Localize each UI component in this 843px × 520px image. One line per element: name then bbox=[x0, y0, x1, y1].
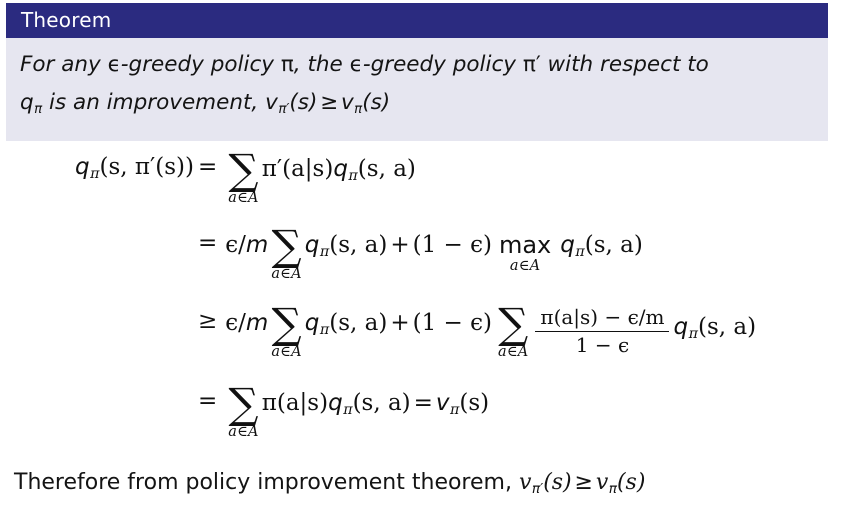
row2-q2-subscript: π bbox=[575, 244, 584, 260]
equation-row-3-lhs bbox=[0, 302, 198, 308]
v1-argument: (s) bbox=[289, 90, 317, 115]
row3-fraction-denominator: 1 − ϵ bbox=[535, 331, 669, 357]
q-symbol: q bbox=[20, 90, 34, 115]
row3-epsilon: ϵ bbox=[225, 310, 238, 336]
equation-row-4: = ∑ a∈A π(a|s)qπ(s, a)=vπ(s) bbox=[0, 382, 843, 442]
row3-slash: / bbox=[238, 310, 246, 336]
row4-pi: π bbox=[262, 390, 277, 416]
row2-m: m bbox=[246, 232, 268, 258]
row3-summation-operator-2: ∑ a∈A bbox=[498, 302, 528, 359]
row4-summand: π(a|s)qπ(s, a)=vπ(s) bbox=[262, 382, 489, 418]
conclusion-v2: v bbox=[596, 470, 608, 495]
row2-q1-subscript: π bbox=[320, 244, 329, 260]
text-with-respect-to: with respect to bbox=[541, 52, 709, 77]
v-symbol-1: v bbox=[265, 90, 278, 115]
row3-fraction: π(a|s) − ϵ/m 1 − ϵ bbox=[535, 306, 669, 357]
row2-one-minus-epsilon: (1 − ϵ) bbox=[413, 224, 492, 258]
text-is-an-improvement: is an improvement, bbox=[42, 90, 265, 115]
row1-prob-arg: (a|s) bbox=[282, 156, 333, 182]
row4-relation-equals: = bbox=[198, 382, 225, 414]
geq-symbol-statement: ≥ bbox=[317, 90, 341, 115]
theorem-header-title: Theorem bbox=[6, 3, 828, 38]
row1-close-arg: (s)) bbox=[155, 154, 194, 180]
row3-q2: q bbox=[673, 314, 688, 340]
conclusion-v2-subscript: π bbox=[609, 481, 617, 497]
row2-slash: / bbox=[238, 232, 246, 258]
v-subscript-pi: π bbox=[354, 91, 362, 129]
equation-row-1-rhs: ∑ a∈A π′(a|s)qπ(s, a) bbox=[225, 148, 416, 205]
sigma-icon: ∑ bbox=[229, 151, 259, 190]
epsilon-symbol-1: ϵ bbox=[108, 52, 121, 77]
row2-coefficient: ϵ/m bbox=[225, 224, 268, 258]
row3-sum1-limit: a∈A bbox=[271, 345, 301, 360]
theorem-statement: For any ϵ-greedy policy π, the ϵ-greedy … bbox=[6, 38, 828, 141]
row1-q-rhs-subscript: π bbox=[348, 168, 357, 184]
row4-q: q bbox=[328, 390, 343, 416]
row3-summation-operator-1: ∑ a∈A bbox=[271, 302, 301, 359]
v-symbol-2: v bbox=[341, 90, 354, 115]
slide-canvas: Theorem For any ϵ-greedy policy π, the ϵ… bbox=[0, 0, 843, 520]
row3-m: m bbox=[246, 310, 268, 336]
conclusion-v1-arg: (s) bbox=[543, 470, 571, 495]
row3-q1: q bbox=[305, 310, 320, 336]
sigma-icon: ∑ bbox=[229, 385, 259, 424]
row1-q-subscript: π bbox=[90, 166, 99, 182]
row4-v: v bbox=[436, 390, 450, 416]
row3-q1-arg: (s, a) bbox=[329, 310, 387, 336]
sigma-icon: ∑ bbox=[272, 227, 302, 266]
conclusion-v2-arg: (s) bbox=[617, 470, 645, 495]
text-greedy-policy-1: -greedy policy bbox=[121, 52, 281, 77]
row2-relation-equals: = bbox=[198, 224, 225, 256]
row4-v-subscript: π bbox=[450, 402, 459, 418]
row2-summation-operator: ∑ a∈A bbox=[271, 224, 301, 281]
pi-prime-symbol: π bbox=[523, 52, 536, 77]
conclusion-v1: v bbox=[519, 470, 531, 495]
row3-relation-geq: ≥ bbox=[198, 302, 225, 334]
equation-row-2-lhs bbox=[0, 224, 198, 230]
conclusion-geq-symbol: ≥ bbox=[572, 470, 596, 495]
row4-equals-2: = bbox=[411, 390, 436, 416]
row3-coefficient: ϵ/m bbox=[225, 302, 268, 336]
row1-q-rhs-arg: (s, a) bbox=[358, 156, 416, 182]
row4-prob-arg: (a|s) bbox=[277, 390, 328, 416]
text-the: , the bbox=[294, 52, 350, 77]
row2-term-2: qπ(s, a) bbox=[560, 224, 643, 260]
row3-term-1: qπ(s, a) bbox=[305, 302, 388, 338]
row2-q1: q bbox=[305, 232, 320, 258]
equation-row-2-rhs: ϵ/m ∑ a∈A qπ(s, a) + (1 − ϵ) max a∈A qπ(… bbox=[225, 224, 643, 281]
row1-q-rhs: q bbox=[333, 156, 348, 182]
text-for-any: For any bbox=[20, 52, 108, 77]
row1-pi-rhs: π bbox=[262, 156, 277, 182]
equation-row-4-lhs bbox=[0, 382, 198, 388]
conclusion-sentence: Therefore from policy improvement theore… bbox=[14, 470, 834, 497]
conclusion-v1-subscript: π′ bbox=[532, 481, 543, 497]
row3-sum2-limit: a∈A bbox=[498, 345, 528, 360]
row4-q-subscript: π bbox=[343, 402, 352, 418]
row2-sum-limit: a∈A bbox=[271, 267, 301, 282]
text-greedy-policy-2: -greedy policy bbox=[363, 52, 523, 77]
conclusion-text: Therefore from policy improvement theore… bbox=[14, 470, 519, 495]
row4-summation-operator: ∑ a∈A bbox=[228, 382, 258, 439]
theorem-statement-line-1: For any ϵ-greedy policy π, the ϵ-greedy … bbox=[20, 46, 814, 84]
epsilon-symbol-2: ϵ bbox=[350, 52, 363, 77]
equation-row-1-lhs: qπ(s, π′(s)) bbox=[0, 148, 198, 182]
max-icon: max bbox=[499, 232, 551, 260]
row1-pi: π bbox=[135, 154, 150, 180]
sigma-icon: ∑ bbox=[272, 305, 302, 344]
equation-row-3-rhs: ϵ/m ∑ a∈A qπ(s, a) + (1 − ϵ) ∑ a∈A π(a|s… bbox=[225, 302, 756, 359]
sigma-icon: ∑ bbox=[498, 305, 528, 344]
row2-max-limit: a∈A bbox=[510, 259, 540, 274]
row4-sum-limit: a∈A bbox=[228, 425, 258, 440]
row3-q1-subscript: π bbox=[320, 322, 329, 338]
row4-v-arg: (s) bbox=[459, 390, 489, 416]
row3-fraction-numerator: π(a|s) − ϵ/m bbox=[535, 306, 669, 331]
row3-plus-sign: + bbox=[387, 302, 412, 336]
v2-argument: (s) bbox=[362, 90, 390, 115]
row4-q-arg: (s, a) bbox=[353, 390, 411, 416]
row2-q1-arg: (s, a) bbox=[329, 232, 387, 258]
row1-summand: π′(a|s)qπ(s, a) bbox=[262, 148, 416, 184]
pi-symbol-1: π bbox=[281, 52, 294, 77]
row2-epsilon: ϵ bbox=[225, 232, 238, 258]
row2-q2-arg: (s, a) bbox=[585, 232, 643, 258]
row1-relation-equals: = bbox=[198, 148, 225, 180]
row1-sum-limit: a∈A bbox=[228, 191, 258, 206]
equation-row-3: ≥ ϵ/m ∑ a∈A qπ(s, a) + (1 − ϵ) ∑ a∈A π(a… bbox=[0, 302, 843, 382]
theorem-statement-line-2: qπ is an improvement, vπ′(s)≥vπ(s) bbox=[20, 84, 814, 129]
row1-q: q bbox=[75, 154, 90, 180]
q-subscript-pi: π bbox=[34, 91, 42, 129]
row3-term-2: qπ(s, a) bbox=[673, 302, 756, 342]
row2-max-operator: max a∈A bbox=[499, 224, 551, 273]
theorem-block: Theorem For any ϵ-greedy policy π, the ϵ… bbox=[6, 3, 828, 141]
row1-summation-operator: ∑ a∈A bbox=[228, 148, 258, 205]
v-subscript-pi-prime: π′ bbox=[278, 91, 289, 129]
row1-open-arg: (s, bbox=[100, 154, 135, 180]
equation-row-4-rhs: ∑ a∈A π(a|s)qπ(s, a)=vπ(s) bbox=[225, 382, 489, 439]
row3-one-minus-epsilon: (1 − ϵ) bbox=[413, 302, 492, 336]
row2-q2: q bbox=[560, 232, 575, 258]
row2-term-1: qπ(s, a) bbox=[305, 224, 388, 260]
equation-row-2: = ϵ/m ∑ a∈A qπ(s, a) + (1 − ϵ) max a∈A q… bbox=[0, 224, 843, 302]
row2-plus-sign: + bbox=[387, 224, 412, 258]
row3-q2-subscript: π bbox=[689, 326, 698, 342]
equation-row-1: qπ(s, π′(s)) = ∑ a∈A π′(a|s)qπ(s, a) bbox=[0, 148, 843, 224]
row3-q2-arg: (s, a) bbox=[698, 314, 756, 340]
derivation-equations: qπ(s, π′(s)) = ∑ a∈A π′(a|s)qπ(s, a) = ϵ… bbox=[0, 148, 843, 442]
